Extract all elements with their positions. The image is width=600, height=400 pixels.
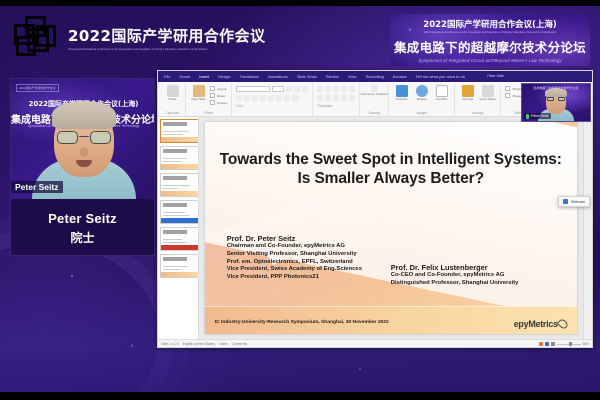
- font-row-top: [236, 86, 308, 92]
- bold-button[interactable]: [236, 95, 242, 101]
- letterbox-bottom: [0, 392, 600, 400]
- pictures-button[interactable]: Pictures: [393, 85, 410, 101]
- font-family-select[interactable]: [236, 86, 270, 92]
- ribbon-group-font: Font: [232, 83, 313, 116]
- paste-icon: [167, 85, 179, 97]
- ribbon-group-label-images: Images: [417, 111, 427, 115]
- speaker-name: Peter Seitz: [48, 211, 117, 226]
- portrait-glasses-icon: [57, 131, 111, 144]
- arrange-icon: [462, 85, 474, 97]
- paste-label: Paste: [169, 98, 177, 101]
- tab-slide-show[interactable]: Slide Show: [297, 74, 317, 79]
- align-center-button[interactable]: [325, 95, 331, 101]
- smartart-icon: [371, 85, 378, 92]
- speaker-caption: Peter Seitz 院士: [11, 199, 154, 256]
- text-box-button[interactable]: Text Box: [433, 85, 450, 101]
- decorative-arc: [0, 242, 160, 400]
- quick-styles-button[interactable]: Quick Styles: [479, 85, 496, 101]
- tab-home[interactable]: Home: [179, 74, 190, 79]
- tab-design[interactable]: Design: [218, 74, 230, 79]
- ribbon-group-paragraph: Paragraph: [313, 83, 360, 116]
- webcam-toast-text: Webcam: [571, 200, 585, 204]
- font-size-select[interactable]: [272, 86, 284, 92]
- conference-title-cn: 2022国际产学研用合作会议: [68, 25, 265, 46]
- pictures-icon: [396, 85, 408, 97]
- decrease-indent-button[interactable]: [333, 86, 339, 92]
- status-language[interactable]: English (United States): [183, 342, 216, 346]
- forum-banner-line2: 2022 International Conference on the Coo…: [424, 31, 556, 35]
- status-comments-button[interactable]: Comments: [232, 342, 247, 346]
- slide-footer-text: IC Industry-University-Research Symposiu…: [215, 320, 389, 325]
- thumbnail-band: [161, 218, 199, 223]
- tab-file[interactable]: File: [164, 74, 170, 79]
- thumbnail-title-placeholder: [163, 230, 197, 234]
- presenter-left-line-4: Vice President, Swiss Academy of Eng.Sci…: [227, 266, 362, 274]
- presenter-left-line-1: Chairman and Co-Founder, epyMetrics AG: [227, 243, 362, 251]
- section-icon: [210, 100, 215, 105]
- ribbon-group-label-clipboard: Clipboard: [166, 111, 180, 115]
- presenter-left-line-5: Vice President, PPP Photonics21: [227, 274, 362, 282]
- reading-view-icon[interactable]: [551, 342, 555, 346]
- shapes-button[interactable]: Shapes: [413, 85, 430, 101]
- align-right-button[interactable]: [333, 95, 339, 101]
- text-box-icon: [436, 85, 448, 97]
- conference-logo-block: 2022国际产学研用合作会议 Prospectus/International …: [14, 16, 265, 60]
- reset-button[interactable]: Reset: [210, 93, 227, 98]
- portrait-mouth: [76, 160, 92, 167]
- zoom-slider[interactable]: [557, 344, 581, 345]
- ribbon-group-images: Pictures Shapes Text Box Images: [389, 83, 455, 116]
- slide-scrollbar[interactable]: [583, 117, 592, 339]
- tab-review[interactable]: Review: [326, 74, 339, 79]
- slide-title[interactable]: Towards the Sweet Spot in Intelligent Sy…: [205, 150, 577, 188]
- shape-fill-icon: [505, 86, 510, 91]
- speaker-video-nametag: Peter Seitz: [11, 181, 63, 193]
- speaker-role: 院士: [70, 229, 94, 246]
- presenter-right-name: Prof. Dr. Felix Lustenberger: [391, 263, 519, 272]
- paragraph-row-bottom: [317, 95, 355, 101]
- powerpoint-ribbon-tabbar[interactable]: File Home Insert Design Transitions Anim…: [158, 71, 592, 82]
- new-slide-button[interactable]: New Slide: [190, 85, 207, 101]
- powerpoint-status-bar: Slide 1 of 24 English (United States) No…: [158, 339, 592, 348]
- thumbnail-band: [161, 164, 199, 169]
- slide-brand-logo: epyMetrics: [514, 319, 567, 329]
- tab-acrobat[interactable]: Acrobat: [393, 74, 407, 79]
- conference-logo-text: 2022国际产学研用合作会议 Prospectus/International …: [68, 25, 265, 52]
- current-slide[interactable]: Towards the Sweet Spot in Intelligent Sy…: [205, 122, 577, 334]
- meeting-video-nameplate: Peter Seitz: [524, 113, 551, 119]
- increase-font-size-button[interactable]: [286, 86, 292, 92]
- quick-styles-icon: [482, 85, 494, 97]
- presenter-block-right[interactable]: Prof. Dr. Felix Lustenberger Co-CEO and …: [391, 263, 519, 288]
- ribbon-group-drawing: Convert to SmartArt Drawing: [360, 83, 389, 116]
- thumbnail-band: [161, 191, 199, 196]
- thumbnail-title-placeholder: [163, 176, 197, 180]
- powerpoint-body: Towards the Sweet Spot in Intelligent Sy…: [158, 117, 592, 339]
- thumbnail-band: [161, 137, 199, 142]
- portrait-nose: [80, 147, 88, 157]
- bullets-button[interactable]: [317, 86, 323, 92]
- slide-thumbnail-6[interactable]: [160, 254, 199, 278]
- ribbon-group-slides: New Slide Layout Reset Sec: [186, 83, 232, 116]
- presenter-left-line-2: Senior Visiting Professor, Shanghai Univ…: [227, 251, 362, 259]
- paragraph-row-top: [317, 86, 355, 92]
- decrease-font-size-button[interactable]: [294, 86, 300, 92]
- strikethrough-button[interactable]: [268, 95, 274, 101]
- presenter-left-line-3: Prof. em. Optoelectronics, EPFL, Switzer…: [227, 259, 362, 267]
- screen-capture: 2022国际产学研用合作会议 Prospectus/International …: [0, 0, 600, 400]
- ribbon-group-label-arrange: Arrange: [472, 111, 483, 115]
- align-left-button[interactable]: [317, 95, 323, 101]
- thumbnail-title-placeholder: [163, 122, 197, 126]
- underline-button[interactable]: [252, 95, 258, 101]
- section-label: Section: [217, 101, 227, 105]
- status-slide-indicator[interactable]: Slide 1 of 24: [161, 342, 179, 346]
- shape-outline-icon: [505, 93, 510, 98]
- webcam-toast[interactable]: Webcam: [558, 196, 590, 207]
- forum-banner-line1: 2022国际产学研用合作会议(上海): [423, 18, 556, 30]
- ribbon-group-label-slides: Slides: [204, 111, 213, 115]
- new-slide-label: New Slide: [192, 98, 206, 101]
- shapes-icon: [416, 85, 428, 97]
- forum-banner-line3: 集成电路下的超越摩尔技术分论坛: [394, 37, 586, 56]
- meeting-portrait-glasses-icon: [547, 97, 565, 101]
- convert-to-smartart-button[interactable]: Convert to SmartArt: [364, 85, 384, 96]
- conference-title-en: Prospectus/International Conference on t…: [68, 48, 228, 52]
- presenter-left-name: Prof. Dr. Peter Seitz: [227, 234, 362, 243]
- slide-thumbnail-1[interactable]: [160, 119, 199, 143]
- speaker-video-corner-logo: 2022国际产学研用合作会议: [16, 84, 59, 92]
- ribbon-group-label-font: Font: [236, 104, 308, 108]
- line-spacing-button[interactable]: [349, 86, 355, 92]
- presenter-block-left[interactable]: Prof. Dr. Peter Seitz Chairman and Co-Fo…: [227, 234, 362, 281]
- ribbon-group-clipboard: Paste Clipboard: [160, 83, 186, 116]
- speaker-video-panel[interactable]: 2022国际产学研用合作会议 2022国际产学研用合作会议(上海) 集成电路下的…: [10, 78, 155, 256]
- meeting-video-name: Peter Seitz: [531, 114, 549, 118]
- font-row-bottom: [236, 95, 308, 101]
- slide-editing-area[interactable]: Towards the Sweet Spot in Intelligent Sy…: [199, 117, 583, 339]
- window-icon: [563, 199, 568, 204]
- character-spacing-button[interactable]: [276, 95, 282, 101]
- slide-thumbnail-4[interactable]: [160, 200, 199, 224]
- letterbox-top: [0, 0, 600, 6]
- thumbnail-band: [161, 272, 199, 277]
- speaker-video-feed[interactable]: 2022国际产学研用合作会议 2022国际产学研用合作会议(上海) 集成电路下的…: [11, 79, 155, 199]
- tab-insert[interactable]: Insert: [199, 74, 209, 79]
- slides-options-stack: Layout Reset Section: [210, 85, 227, 105]
- overlapping-squares-logo-icon: [14, 16, 60, 60]
- font-color-button[interactable]: [292, 95, 298, 101]
- slide-thumbnail-5[interactable]: [160, 227, 199, 251]
- presenter-right-line-1: Co-CEO and Co-Founder, epyMetrics AG: [391, 272, 519, 280]
- status-notes-button[interactable]: Notes: [219, 342, 227, 346]
- tab-view[interactable]: View: [348, 74, 357, 79]
- portrait-hair: [52, 101, 116, 129]
- slide-thumbnail-3[interactable]: [160, 173, 199, 197]
- section-button[interactable]: Section: [210, 100, 227, 105]
- reset-icon: [210, 93, 215, 98]
- slide-brand-text: epyMetrics: [514, 319, 558, 329]
- layout-icon: [210, 86, 215, 91]
- tell-me-search[interactable]: Tell me what you want to do: [416, 74, 465, 79]
- thumbnail-title-placeholder: [163, 203, 197, 207]
- microphone-icon: [526, 114, 529, 119]
- clear-formatting-button[interactable]: [302, 86, 308, 92]
- quick-styles-label: Quick Styles: [479, 98, 496, 101]
- arrange-button[interactable]: Arrange: [459, 85, 476, 101]
- forum-banner: 2022国际产学研用合作会议(上海) 2022 International Co…: [390, 14, 590, 66]
- layout-button[interactable]: Layout: [210, 86, 227, 91]
- new-slide-icon: [193, 85, 205, 97]
- columns-button[interactable]: [349, 95, 355, 101]
- slide-title-line1: Towards the Sweet Spot in Intelligent Sy…: [205, 150, 577, 169]
- presenter-right-line-2: Distinguished Professor, Shanghai Univer…: [391, 280, 519, 288]
- tab-transitions[interactable]: Transitions: [240, 74, 259, 79]
- change-case-button[interactable]: [284, 95, 290, 101]
- arrange-label: Arrange: [462, 98, 473, 101]
- ribbon-group-arrange: Arrange Quick Styles Arrange: [455, 83, 501, 116]
- shapes-label: Shapes: [417, 98, 428, 101]
- justify-button[interactable]: [341, 95, 347, 101]
- tab-animations[interactable]: Animations: [268, 74, 288, 79]
- smartart-label: Convert to SmartArt: [361, 93, 388, 96]
- paste-button[interactable]: Paste: [164, 85, 181, 101]
- thumbnail-band: [161, 245, 199, 250]
- layout-label: Layout: [217, 87, 226, 91]
- ribbon-group-label-drawing: Drawing: [368, 111, 380, 115]
- thumbnail-title-placeholder: [163, 149, 197, 153]
- ribbon-group-label-paragraph: Paragraph: [317, 104, 355, 108]
- status-right-cluster: 66%: [539, 342, 589, 346]
- account-name[interactable]: Peter Seitz: [487, 74, 504, 78]
- slide-thumbnail-2[interactable]: [160, 146, 199, 170]
- powerpoint-window[interactable]: File Home Insert Design Transitions Anim…: [157, 70, 593, 348]
- meeting-video-tile[interactable]: 集成电路下的超越摩尔技术分论坛 Peter Seitz: [521, 83, 591, 122]
- slide-thumbnail-pane[interactable]: [158, 117, 199, 339]
- tab-recording[interactable]: Recording: [366, 74, 384, 79]
- increase-indent-button[interactable]: [341, 86, 347, 92]
- slide-sorter-icon[interactable]: [545, 342, 549, 346]
- zoom-level[interactable]: 66%: [583, 342, 589, 346]
- forum-banner-line4: Symposium of Integrated Circuit and Beyo…: [418, 58, 561, 63]
- numbering-button[interactable]: [325, 86, 331, 92]
- italic-button[interactable]: [244, 95, 250, 101]
- meeting-portrait-hair: [545, 88, 567, 97]
- pictures-label: Pictures: [396, 98, 407, 101]
- thumbnail-title-placeholder: [163, 257, 197, 261]
- normal-view-icon[interactable]: [539, 342, 543, 346]
- shadow-button[interactable]: [260, 95, 266, 101]
- text-box-label: Text Box: [436, 98, 448, 101]
- slide-title-line2: Is Smaller Always Better?: [205, 169, 577, 188]
- reset-label: Reset: [217, 94, 225, 98]
